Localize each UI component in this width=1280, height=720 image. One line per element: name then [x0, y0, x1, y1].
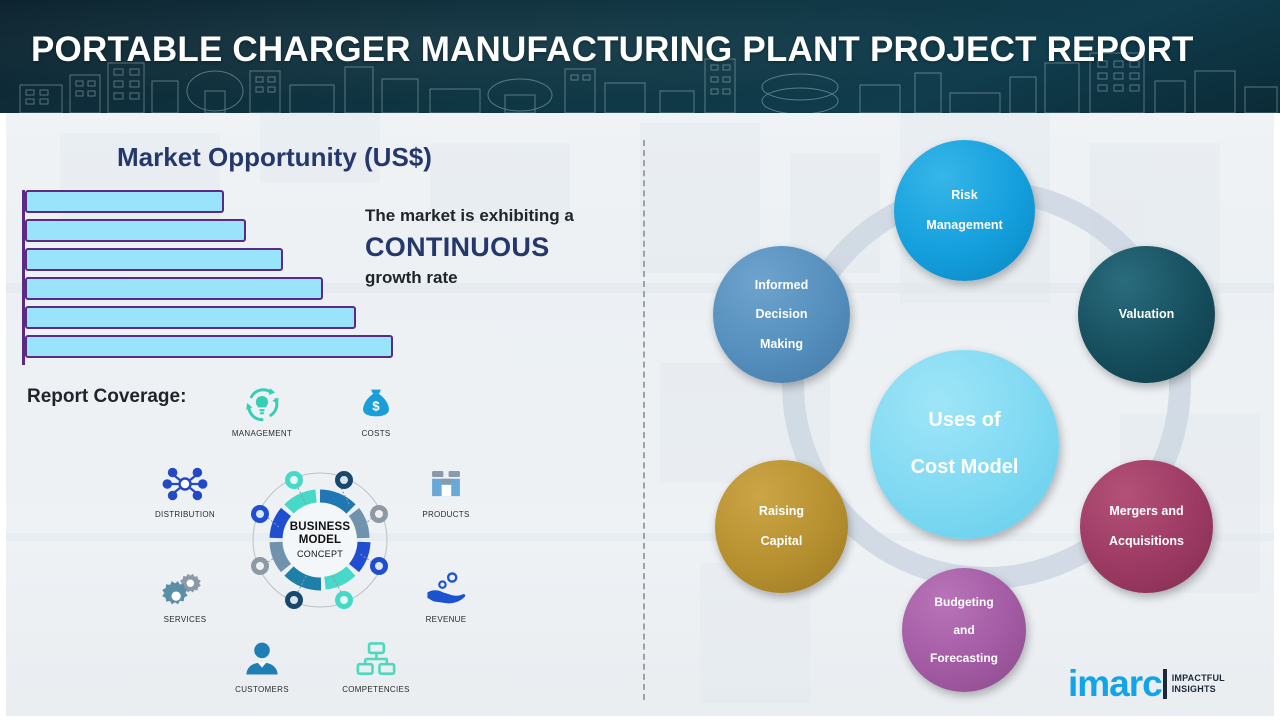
growth-line-3: growth rate: [365, 267, 635, 289]
left-rail: [0, 113, 6, 720]
informed-line-3: Making: [749, 337, 814, 352]
imarc-logo: imarc IMPACTFUL INSIGHTS: [1068, 662, 1266, 706]
slide-header: PORTABLE CHARGER MANUFACTURING PLANT PRO…: [0, 0, 1280, 113]
svg-text:$: $: [372, 399, 380, 414]
coverage-item-competencies: COMPETENCIES: [330, 636, 422, 694]
bottom-rail: [0, 716, 1280, 720]
recycle-lightbulb-icon: [216, 380, 308, 426]
center-line-2: Cost Model: [905, 456, 1025, 480]
budget-line-3: Forecasting: [924, 651, 1004, 665]
user-person-icon: [216, 636, 308, 682]
mna-line-1: Mergers and: [1103, 504, 1190, 519]
coverage-item-costs: $ COSTS: [330, 380, 422, 438]
coverage-item-distribution: DISTRIBUTION: [139, 461, 231, 519]
report-coverage-label: Report Coverage:: [27, 386, 186, 408]
bubble-valuation: Valuation: [1078, 246, 1215, 383]
logo-tagline-2: INSIGHTS: [1172, 684, 1225, 695]
coverage-label: COMPETENCIES: [330, 685, 422, 694]
chart-bar: [25, 335, 393, 358]
mna-line-2: Acquisitions: [1103, 534, 1190, 549]
right-rail: [1274, 113, 1280, 720]
growth-line-2: CONTINUOUS: [365, 227, 635, 267]
coverage-label: MANAGEMENT: [216, 429, 308, 438]
bubble-budgeting-and-forecasting: Budgeting and Forecasting: [902, 568, 1026, 692]
market-opportunity-title: Market Opportunity (US$): [117, 142, 432, 173]
informed-line-1: Informed: [749, 278, 814, 293]
hand-coins-icon: [400, 566, 492, 612]
coverage-label: SERVICES: [139, 615, 231, 624]
informed-line-2: Decision: [749, 307, 814, 322]
bubble-raising-capital: Raising Capital: [715, 460, 848, 593]
coverage-label: COSTS: [330, 429, 422, 438]
money-bag-icon: $: [330, 380, 422, 426]
coverage-label: DISTRIBUTION: [139, 510, 231, 519]
box-package-icon: [400, 461, 492, 507]
risk-line-2: Management: [920, 218, 1008, 233]
gears-icon: [139, 566, 231, 612]
center-line-1: Uses of: [905, 409, 1025, 433]
bubble-mergers-and-acquisitions: Mergers and Acquisitions: [1080, 460, 1213, 593]
logo-tagline-1: IMPACTFUL: [1172, 673, 1225, 684]
coverage-item-management: MANAGEMENT: [216, 380, 308, 438]
valuation-label: Valuation: [1113, 307, 1181, 322]
chart-bar: [25, 248, 283, 271]
budget-line-2: and: [924, 623, 1004, 637]
chart-bar: [25, 306, 356, 329]
network-nodes-icon: [139, 461, 231, 507]
coverage-item-products: PRODUCTS: [400, 461, 492, 519]
coverage-label: PRODUCTS: [400, 510, 492, 519]
logo-divider: [1163, 669, 1167, 699]
page-title: PORTABLE CHARGER MANUFACTURING PLANT PRO…: [31, 30, 1194, 70]
budget-line-1: Budgeting: [924, 595, 1004, 609]
logo-wordmark: imarc: [1068, 667, 1162, 701]
growth-line-1: The market is exhibiting a: [365, 205, 635, 227]
coverage-item-revenue: REVENUE: [400, 566, 492, 624]
business-model-wheel: BUSINESS MODEL CONCEPT: [246, 466, 394, 614]
raising-line-2: Capital: [753, 534, 810, 549]
chart-bar: [25, 219, 246, 242]
market-opportunity-bar-chart: [22, 190, 402, 365]
raising-line-1: Raising: [753, 504, 810, 519]
coverage-item-services: SERVICES: [139, 566, 231, 624]
market-growth-statement: The market is exhibiting a CONTINUOUS gr…: [365, 205, 635, 289]
coverage-label: CUSTOMERS: [216, 685, 308, 694]
chart-bar: [25, 277, 323, 300]
slide-canvas: PORTABLE CHARGER MANUFACTURING PLANT PRO…: [0, 0, 1280, 720]
bubble-informed-decision-making: Informed Decision Making: [713, 246, 850, 383]
bubble-risk-management: Risk Management: [894, 140, 1035, 281]
org-chart-icon: [330, 636, 422, 682]
coverage-label: REVENUE: [400, 615, 492, 624]
panel-divider: [643, 140, 645, 700]
coverage-item-customers: CUSTOMERS: [216, 636, 308, 694]
risk-line-1: Risk: [920, 188, 1008, 203]
bubble-uses-of-cost-model: Uses of Cost Model: [870, 350, 1059, 539]
chart-bar: [25, 190, 224, 213]
